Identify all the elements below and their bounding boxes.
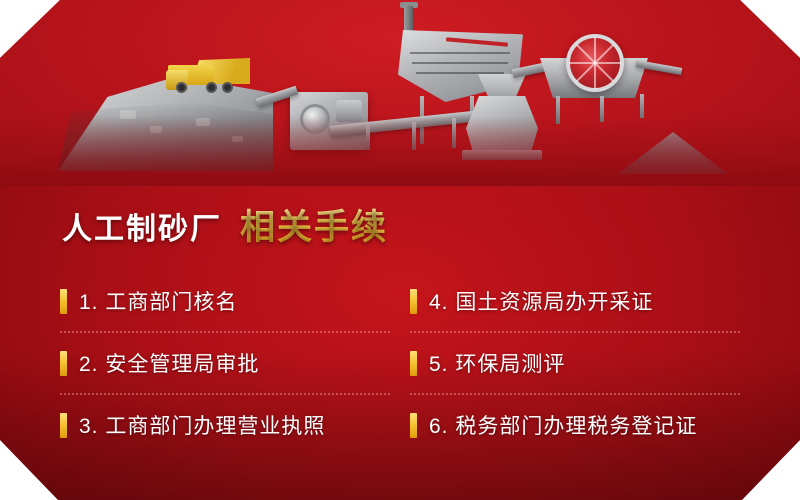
rock-chunk [120,110,136,119]
vsi-sand-maker [466,96,538,158]
screen-deck-line [412,62,508,64]
gold-bar-icon [60,351,67,376]
gold-bar-icon [410,289,417,314]
list-item-label: 6. 税务部门办理税务登记证 [429,410,697,440]
conveyor-strut [412,122,416,150]
rock-chunk [196,118,210,126]
screen-deck-line [410,52,510,54]
conveyor-strut [452,118,456,148]
headline-lead: 人工制砂厂 [62,204,222,248]
crusher-motor [336,100,362,122]
gold-bar-icon [410,413,417,438]
rock-chunk [232,136,243,142]
washer-support-leg [556,96,560,124]
crusher-flywheel [300,104,330,134]
list-item-label: 5. 环保局测评 [429,348,565,378]
list-item-label: 1. 工商部门核名 [79,286,237,316]
vsi-base-frame [462,150,542,160]
dump-truck-wheel [176,82,187,93]
list-item: 4. 国土资源局办开采证 [410,270,750,332]
list-item: 3. 工商部门办理营业执照 [60,394,410,456]
list-item: 6. 税务部门办理税务登记证 [410,394,750,456]
sand-washing-wheel [566,34,624,92]
list-item-label: 2. 安全管理局审批 [79,348,259,378]
gold-bar-icon [60,289,67,314]
gold-bar-icon [60,413,67,438]
dump-truck-wheel [206,82,217,93]
list-item-label: 3. 工商部门办理营业执照 [79,410,325,440]
screen-deck-line [416,72,504,74]
finished-sand-pile [618,132,728,174]
list-item: 2. 安全管理局审批 [60,332,410,394]
headline-highlight: 相关手续 [240,199,388,250]
list-item: 1. 工商部门核名 [60,270,410,332]
plant-photo-scene [0,0,800,186]
conveyor-strut [366,124,370,150]
washer-support-leg [600,96,604,122]
dump-truck-wheel [222,82,233,93]
gold-bar-icon [410,351,417,376]
poster: 人工制砂厂 相关手续 1. 工商部门核名 4. 国土资源局办开采证 2. 安全管… [0,0,800,500]
list-item-label: 4. 国土资源局办开采证 [429,286,653,316]
list-item: 5. 环保局测评 [410,332,750,394]
rock-chunk [150,126,162,133]
procedure-list: 1. 工商部门核名 4. 国土资源局办开采证 2. 安全管理局审批 5. 环保局… [60,270,750,456]
washer-support-leg [640,94,644,118]
page-title: 人工制砂厂 相关手续 [62,199,388,250]
